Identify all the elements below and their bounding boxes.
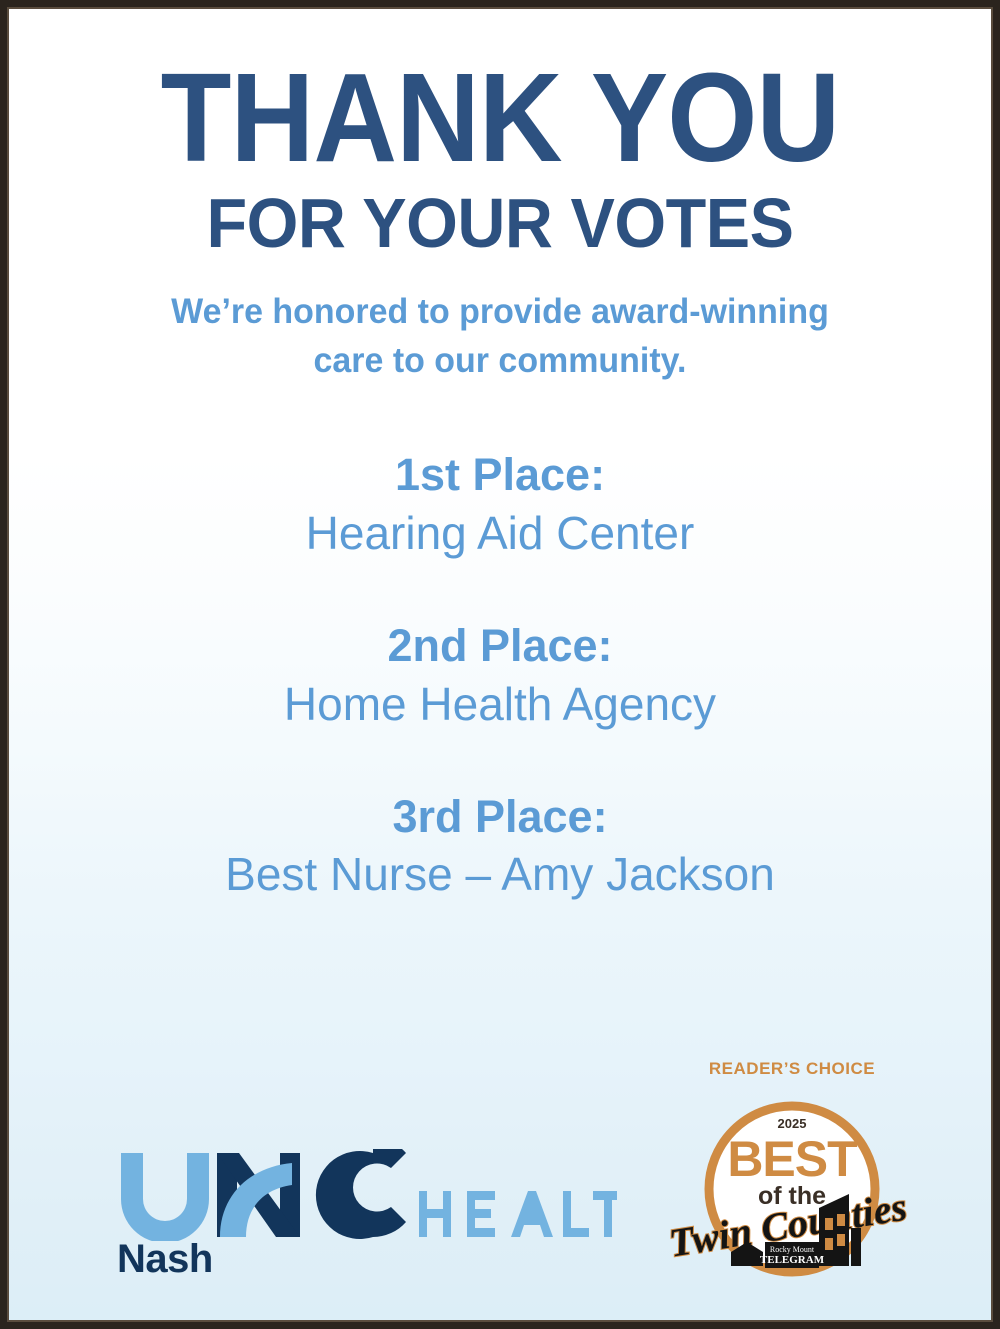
tagline-line-2: care to our community. xyxy=(102,336,897,386)
badge-best-text: BEST xyxy=(727,1131,857,1187)
badge-publisher-line-1: Rocky Mount xyxy=(770,1245,815,1254)
award-place-label: 2nd Place: xyxy=(7,619,993,674)
badge-top-text: READER’S CHOICE xyxy=(709,1059,875,1078)
page-title: THANK YOU xyxy=(46,55,953,181)
page-subtitle: FOR YOUR VOTES xyxy=(32,187,969,261)
readers-choice-badge: READER’S CHOICE 2025 BEST of the Twin Co… xyxy=(669,1056,915,1282)
award-name-label: Hearing Aid Center xyxy=(7,505,993,563)
unc-affiliate-label: Nash xyxy=(117,1237,617,1282)
award-item-third: 3rd Place: Best Nurse – Amy Jackson xyxy=(7,790,993,905)
award-poster: THANK YOU FOR YOUR VOTES We’re honored t… xyxy=(0,0,1000,1329)
headline-block: THANK YOU FOR YOUR VOTES xyxy=(7,7,993,261)
best-of-twin-counties-badge-icon: READER’S CHOICE 2025 BEST of the Twin Co… xyxy=(669,1056,915,1282)
footer: R Nash READER’S CHOICE 2025 BEST of the … xyxy=(7,1056,993,1282)
badge-publisher-line-2: TELEGRAM xyxy=(760,1254,825,1266)
award-place-label: 1st Place: xyxy=(7,448,993,503)
award-item-first: 1st Place: Hearing Aid Center xyxy=(7,448,993,563)
unc-health-nash-logo: R Nash xyxy=(117,1149,617,1282)
awards-list: 1st Place: Hearing Aid Center 2nd Place:… xyxy=(7,448,993,905)
tagline: We’re honored to provide award-winning c… xyxy=(102,287,897,386)
award-place-label: 3rd Place: xyxy=(7,790,993,845)
tagline-line-1: We’re honored to provide award-winning xyxy=(102,287,897,337)
award-item-second: 2nd Place: Home Health Agency xyxy=(7,619,993,734)
award-name-label: Best Nurse – Amy Jackson xyxy=(7,846,993,904)
unc-health-logo-icon: R xyxy=(117,1149,617,1241)
award-name-label: Home Health Agency xyxy=(7,676,993,734)
badge-year: 2025 xyxy=(778,1116,807,1131)
